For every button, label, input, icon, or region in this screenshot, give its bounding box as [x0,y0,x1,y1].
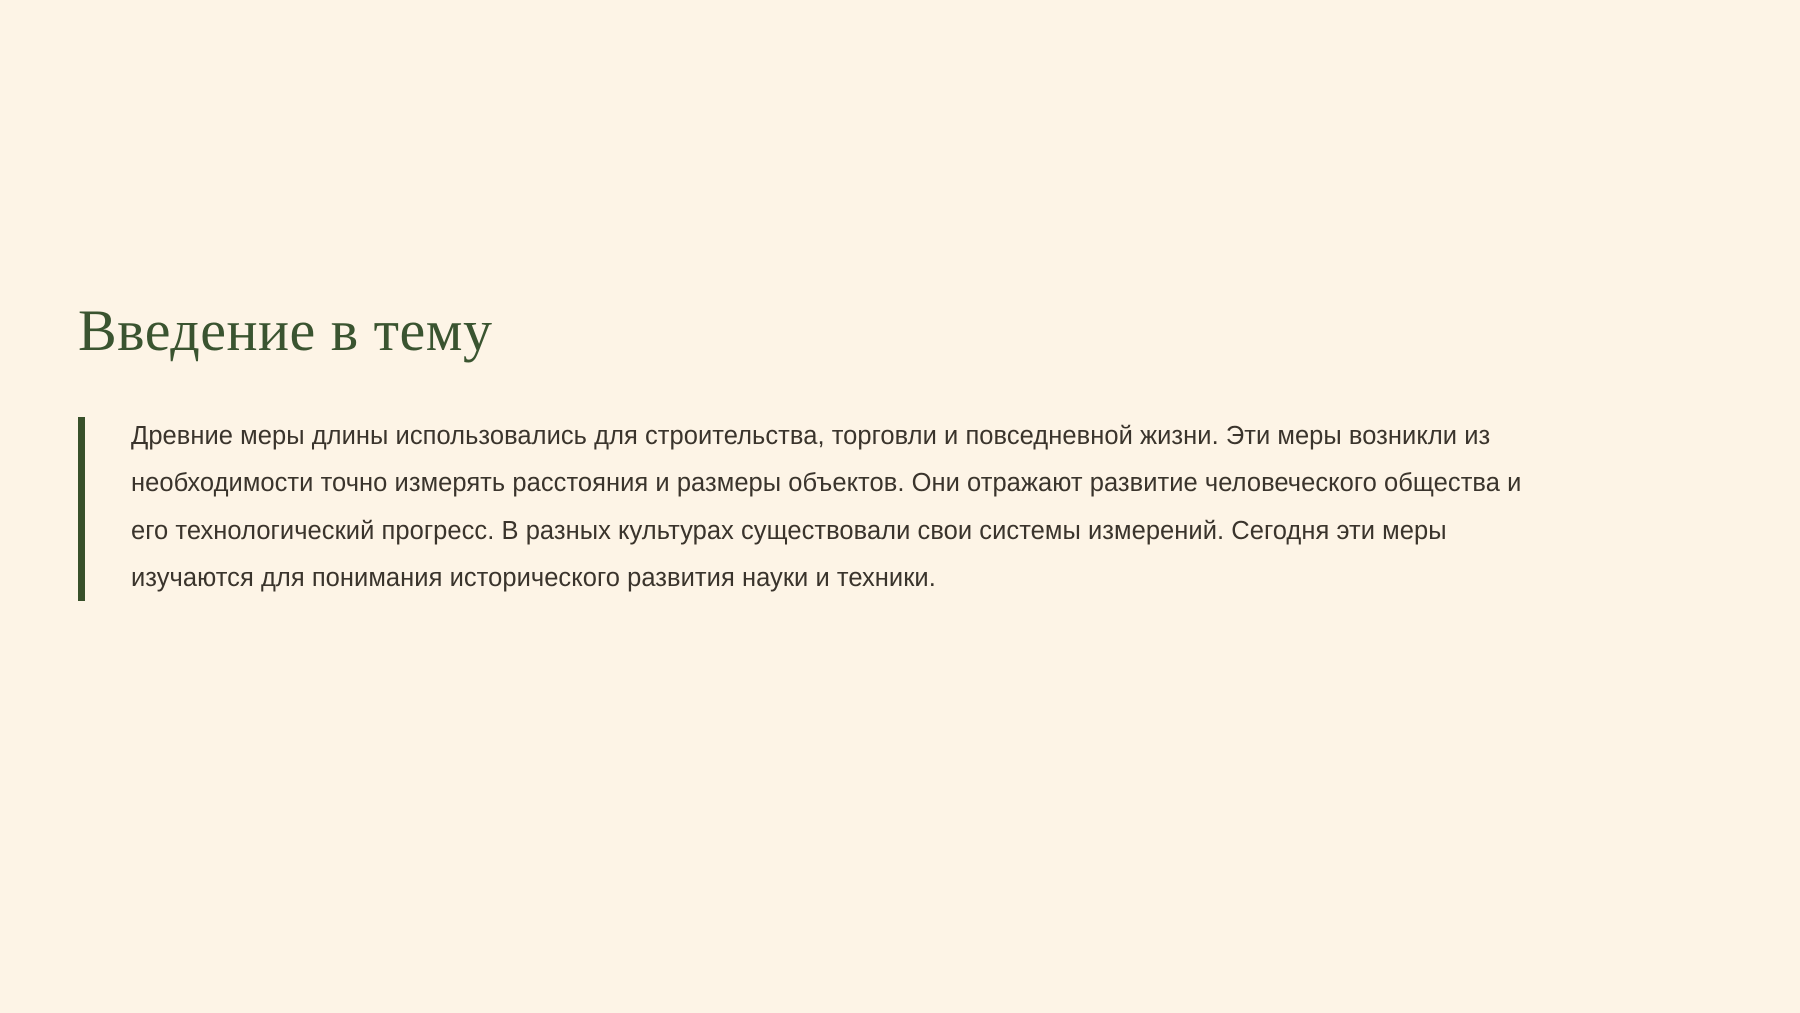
content-block: Введение в тему Древние меры длины испол… [78,300,1738,603]
slide-canvas: Введение в тему Древние меры длины испол… [0,0,1800,1013]
page-title: Введение в тему [78,300,1738,363]
body-paragraph: Древние меры длины использовались для ст… [131,413,1558,603]
accent-bar [78,417,85,601]
quote-block: Древние меры длины использовались для ст… [78,413,1558,603]
